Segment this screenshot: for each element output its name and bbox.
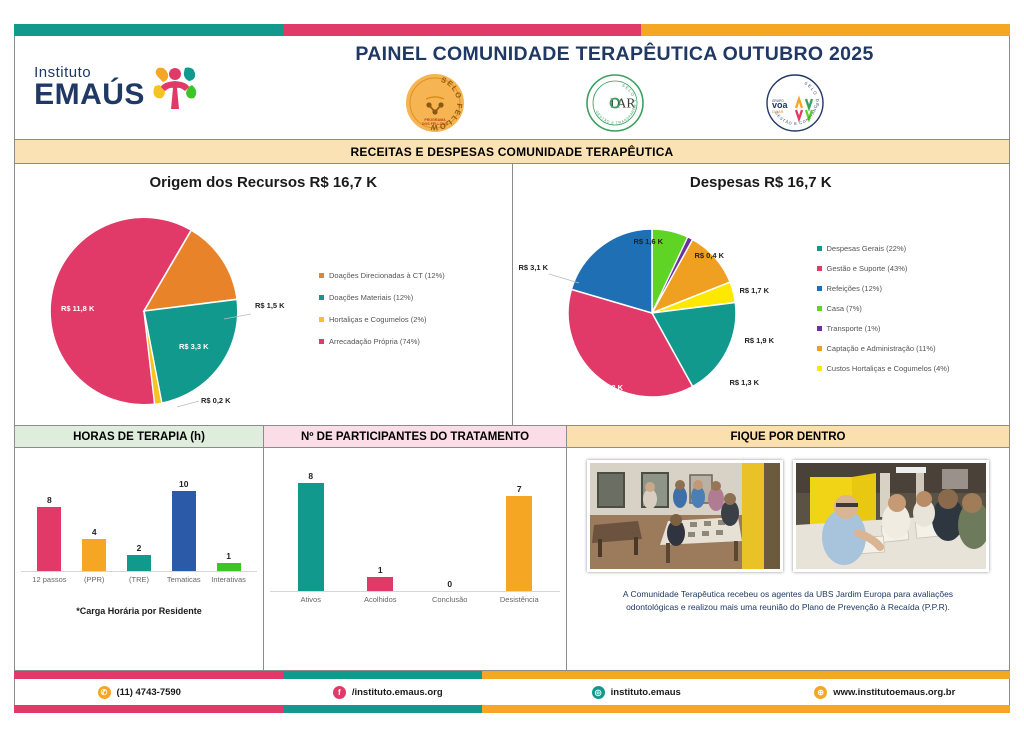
footer-strip-teal-2 [283,705,482,713]
bar-column: 1 [357,454,403,591]
footer-top-strip [14,671,1010,679]
panel-participantes: Nº DE PARTICIPANTES DO TRATAMENTO 8 1 0 … [263,426,566,670]
bar-rect [367,577,393,591]
legend-item: Gestão e Suporte (43%) [817,264,950,273]
pie-label-transporte: R$ 0,4 K [695,251,725,260]
footer-strip-amber [482,671,1010,679]
bar-chart-participantes: 8 1 0 7 [270,454,560,592]
bar-value: 1 [226,551,231,561]
pie-label-casa: R$ 1,6 K [634,237,664,246]
footer-item-phone[interactable]: ✆ (11) 4743-7590 [15,686,264,699]
legend-swatch-icon [817,306,822,311]
bar-category-label: Ativos [281,595,341,604]
selo-fellow-badge: SELO FELLOW PROGRAMA DOS FELLOWS [404,72,466,134]
bar-category-label: (TRE) [117,575,162,584]
pie-label-gestao: R$ 6,8 K [594,383,624,392]
legend-label: Custos Hortaliças e Cogumelos (4%) [827,364,950,373]
pie-label-captacao: R$ 1,7 K [740,286,770,295]
legend-item: Custos Hortaliças e Cogumelos (4%) [817,364,950,373]
bar-value: 7 [517,484,522,494]
pie-label-refeicoes: R$ 3,1 K [519,263,549,272]
legend-swatch-icon [817,326,822,331]
globe-icon: ⊕ [814,686,827,699]
legend-item: Despesas Gerais (22%) [817,244,950,253]
bar-category-label: Tematicas [161,575,206,584]
bar-value: 10 [179,479,188,489]
chart-horas-body: 8 4 2 10 1 12 p [15,448,263,670]
facebook-icon: f [333,686,346,699]
bar-value: 4 [92,527,97,537]
legend-item: Casa (7%) [817,304,950,313]
legend-swatch-icon [817,286,822,291]
footer-instagram-label: instituto.emaus [611,687,681,698]
legend-label: Despesas Gerais (22%) [827,244,907,253]
pie-label-arrecadacao: R$ 11,8 K [61,304,94,313]
bar-rect [298,483,324,591]
chart-participantes-body: 8 1 0 7 Ativos Acolhidos Conclu [264,448,566,670]
footer-strip-teal [283,671,482,679]
bar-category-label: 12 passos [27,575,72,584]
bar-column: 4 [72,454,117,571]
footer-strip-pink [14,671,283,679]
bar-value: 2 [137,543,142,553]
legend-label: Hortaliças e Cogumelos (2%) [329,315,427,324]
legend-swatch-icon [817,246,822,251]
bar-value: 8 [308,471,313,481]
chart-origem-dos-recursos: Origem dos Recursos R$ 16,7 K [15,164,512,425]
footer-item-instagram[interactable]: ◎ instituto.emaus [512,686,761,699]
panel-title-participantes: Nº DE PARTICIPANTES DO TRATAMENTO [264,426,566,448]
dashboard-header: Instituto EMAÚS PAINEL COMUNIDADE TERAPÊ… [14,36,1010,140]
legend-label: Transporte (1%) [827,324,881,333]
footer-website-label: www.institutoemaus.org.br [833,687,955,698]
instituto-emaus-logo: Instituto EMAÚS [15,64,220,112]
pie-label-doacoes-ct: R$ 1,5 K [255,301,285,310]
legend-swatch-icon [817,346,822,351]
footer-item-website[interactable]: ⊕ www.institutoemaus.org.br [761,686,1010,699]
pie-label-custos-hortalicas: R$ 1,9 K [745,336,775,345]
logo-line2: EMAÚS [34,80,145,110]
legend-label: Doações Materiais (12%) [329,293,413,302]
bar-category-label: Acolhidos [350,595,410,604]
bar-rect [127,555,151,571]
legend-label: Gestão e Suporte (43%) [827,264,908,273]
instagram-icon: ◎ [592,686,605,699]
bar-value: 1 [378,565,383,575]
legend-swatch-icon [817,366,822,371]
certification-badges: SELO FELLOW PROGRAMA DOS FELLOWS [404,72,826,134]
header-main: PAINEL COMUNIDADE TERAPÊUTICA OUTUBRO 20… [220,41,1009,134]
footer-phone-label: (11) 4743-7590 [117,687,181,698]
bar-rect [82,539,106,571]
photo-refeitorio[interactable] [587,460,783,572]
footer-strip-pink-2 [14,705,283,713]
footer-item-facebook[interactable]: f /instituto.emaus.org [264,686,513,699]
bar-category-label: (PPR) [72,575,117,584]
bar-column: 0 [427,454,473,591]
legend-swatch-icon [319,273,324,278]
legend-swatch-icon [319,295,324,300]
people-group-icon [149,64,201,112]
bar-rect [506,496,532,591]
bar-column: 8 [288,454,334,591]
bar-column: 7 [496,454,542,591]
chart-despesas: Despesas R$ 16,7 K [512,164,1010,425]
panel-title-fique-por-dentro: FIQUE POR DENTRO [567,426,1009,448]
legend-item: Arrecadação Própria (74%) [319,337,445,346]
bar-category-label: Interativas [206,575,251,584]
bar-value: 8 [47,495,52,505]
legend-origem: Doações Direcionadas à CT (12%) Doações … [319,271,445,346]
fique-por-dentro-caption: A Comunidade Terapêutica recebeu os agen… [573,572,1003,614]
selo-voa-badge: SELO DE GRUPO voa DOAR GESTÃO E CONFIANÇ… [764,72,826,134]
legend-label: Doações Direcionadas à CT (12%) [329,271,445,280]
bar-rect [172,491,196,571]
pie-label-despesas-gerais: R$ 1,3 K [730,378,760,387]
pie-charts-row: Origem dos Recursos R$ 16,7 K [14,164,1010,426]
section-band-receitas-despesas: RECEITAS E DESPESAS COMUNIDADE TERAPÊUTI… [14,140,1010,164]
fique-por-dentro-body: A Comunidade Terapêutica recebeu os agen… [567,448,1009,670]
panel-fique-por-dentro: FIQUE POR DENTRO [566,426,1009,670]
bar-column: 10 [161,454,206,571]
bar-rect [217,563,241,571]
strip-segment-amber [641,24,1010,36]
chart-title-origem: Origem dos Recursos R$ 16,7 K [19,174,508,191]
legend-label: Captação e Administração (11%) [827,344,936,353]
bar-rect [37,507,61,571]
photo-gallery [573,454,1003,572]
bar-column: 8 [27,454,72,571]
legend-label: Arrecadação Própria (74%) [329,337,420,346]
phone-icon: ✆ [98,686,111,699]
strip-segment-teal [14,24,283,36]
photo-reuniao[interactable] [793,460,989,572]
legend-label: Casa (7%) [827,304,862,313]
legend-item: Refeições (12%) [817,284,950,293]
bar-value: 0 [447,579,452,589]
panel-horas-de-terapia: HORAS DE TERAPIA (h) 8 4 2 10 [15,426,263,670]
selo-doar-badge: SELO A D AR GESTÃO E TRANSPARÊNCIA [584,72,646,134]
pie-despesas: R$ 1,6 K R$ 0,4 K R$ 1,7 K R$ 1,9 K R$ 1… [517,201,817,416]
footer-strip-amber-2 [482,705,1010,713]
pie-label-doacoes-materiais: R$ 3,3 K [179,342,209,351]
bar-column: 2 [117,454,162,571]
chart-title-despesas: Despesas R$ 16,7 K [517,174,1006,191]
page-title: PAINEL COMUNIDADE TERAPÊUTICA OUTUBRO 20… [355,43,873,66]
bar-column: 1 [206,454,251,571]
legend-item: Transporte (1%) [817,324,950,333]
footer-facebook-label: /instituto.emaus.org [352,687,443,698]
bar-category-label: Desistência [489,595,549,604]
legend-item: Doações Materiais (12%) [319,293,445,302]
top-color-strip [14,24,1010,36]
legend-label: Refeições (12%) [827,284,882,293]
bottom-panels-row: HORAS DE TERAPIA (h) 8 4 2 10 [14,426,1010,671]
bar-chart-horas: 8 4 2 10 1 [21,454,257,572]
legend-item: Hortaliças e Cogumelos (2%) [319,315,445,324]
legend-swatch-icon [319,317,324,322]
pie-origem: R$ 11,8 K R$ 1,5 K R$ 3,3 K R$ 0,2 K [19,201,319,416]
footer-bottom-strip [14,705,1010,713]
legend-item: Captação e Administração (11%) [817,344,950,353]
legend-despesas: Despesas Gerais (22%) Gestão e Suporte (… [817,244,950,373]
strip-segment-pink [283,24,642,36]
legend-swatch-icon [817,266,822,271]
bar-category-label: Conclusão [420,595,480,604]
legend-swatch-icon [319,339,324,344]
chart-footnote-horas: *Carga Horária por Residente [21,606,257,616]
bar-categories-participantes: Ativos Acolhidos Conclusão Desistência [270,592,560,604]
footer-contact-bar: ✆ (11) 4743-7590 f /instituto.emaus.org … [14,679,1010,705]
bar-categories-horas: 12 passos (PPR) (TRE) Tematicas Interati… [21,572,257,584]
pie-label-hortalicas: R$ 0,2 K [201,396,231,405]
legend-item: Doações Direcionadas à CT (12%) [319,271,445,280]
panel-title-horas: HORAS DE TERAPIA (h) [15,426,263,448]
dashboard-page: Instituto EMAÚS PAINEL COMUNIDADE TERAPÊ… [0,24,1024,748]
svg-text:DOS FELLOWS: DOS FELLOWS [421,122,448,126]
